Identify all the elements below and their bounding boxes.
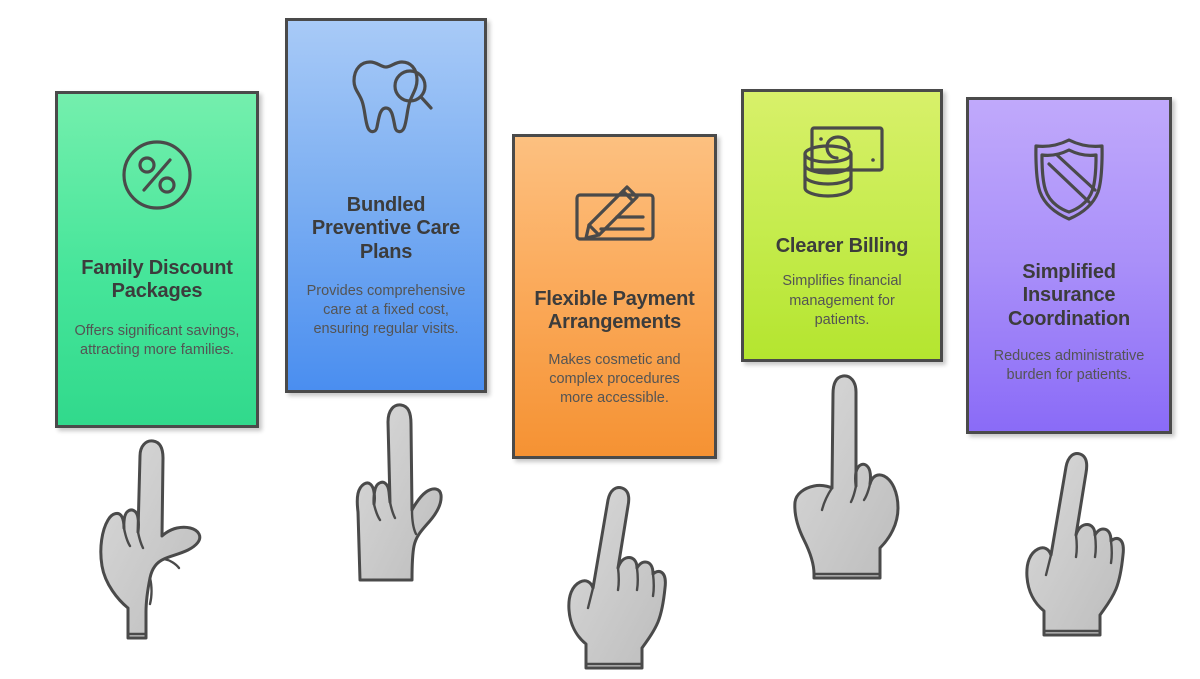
card-description: Reduces administrative burden for patien…	[981, 347, 1157, 385]
pointing-hand-icon-3	[552, 478, 676, 679]
card-simplified-insurance-coordination[interactable]: Simplified Insurance Coordination Reduce…	[966, 97, 1172, 434]
card-description: Makes cosmetic and complex procedures mo…	[527, 351, 702, 408]
infographic-canvas: Family Discount Packages Offers signific…	[0, 0, 1200, 675]
card-description: Offers significant savings, attracting m…	[70, 322, 244, 360]
pointing-hand-icon-1	[78, 432, 226, 649]
card-title: Bundled Preventive Care Plans	[300, 194, 472, 264]
pointing-hand-icon-5	[1012, 443, 1132, 646]
card-title: Family Discount Packages	[70, 257, 244, 304]
card-title: Clearer Billing	[774, 235, 911, 258]
card-title: Flexible Payment Arrangements	[527, 288, 702, 335]
banknote-coins-icon	[794, 120, 890, 209]
pointing-hand-icon-2	[334, 392, 464, 587]
card-flexible-payment-arrangements[interactable]: Flexible Payment Arrangements Makes cosm…	[512, 134, 717, 459]
card-family-discount-packages[interactable]: Family Discount Packages Offers signific…	[55, 91, 259, 428]
pointing-hand-icon-4	[768, 368, 910, 587]
card-clearer-billing[interactable]: Clearer Billing Simplifies financial man…	[741, 89, 943, 362]
card-title: Simplified Insurance Coordination	[981, 261, 1157, 331]
card-description: Simplifies financial management for pati…	[756, 272, 928, 329]
cheque-pen-icon	[567, 173, 663, 254]
card-description: Provides comprehensive care at a fixed c…	[300, 282, 472, 339]
tooth-magnifier-icon	[336, 55, 436, 154]
shield-icon	[1027, 134, 1111, 229]
percent-circle-icon	[114, 132, 200, 223]
card-bundled-preventive-care-plans[interactable]: Bundled Preventive Care Plans Provides c…	[285, 18, 487, 393]
